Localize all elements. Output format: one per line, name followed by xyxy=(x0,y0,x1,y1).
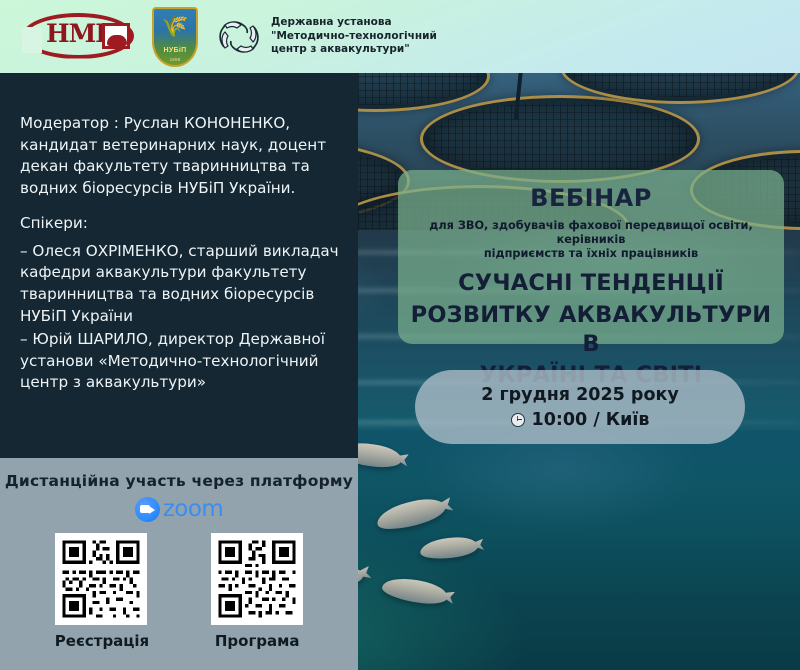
nmc-box-shape xyxy=(102,23,130,49)
nmc-logo: НМЦ xyxy=(16,7,146,67)
org-line-2: "Методично-технологічний xyxy=(271,30,437,44)
shield-label: НУБіП xyxy=(152,47,198,54)
speaker-2-text: – Юрій ШАРИЛО, директор Державної устано… xyxy=(20,329,340,394)
event-time-row: 10:00 / Київ xyxy=(511,410,650,430)
speaker-1-text: – Олеся ОХРІМЕНКО, старший викладач кафе… xyxy=(20,241,340,327)
platform-title: Дистанційна участь через платформу xyxy=(0,472,358,490)
wheat-icon: 🌾 xyxy=(161,15,188,37)
org-line-1: Державна установа xyxy=(271,16,437,30)
fish xyxy=(381,574,450,607)
clock-icon xyxy=(511,413,525,427)
zoom-logo: zoom xyxy=(0,496,358,522)
organization-name: Державна установа "Методично-технологічн… xyxy=(271,16,437,58)
speakers-panel: Модератор : Руслан КОНОНЕНКО, кандидат в… xyxy=(0,73,358,458)
video-camera-icon xyxy=(135,497,160,522)
qr-code-program-icon[interactable] xyxy=(211,533,303,625)
webinar-title-line-2: РОЗВИТКУ АКВАКУЛЬТУРИ В xyxy=(410,301,772,360)
du-organization-logo: Державна установа "Методично-технологічн… xyxy=(216,14,437,60)
webinar-poster: НМЦ 🌾 НУБіП 1898 xyxy=(0,0,800,670)
org-line-3: центр з аквакультури" xyxy=(271,43,437,57)
qr-caption-registration: Реєстрація xyxy=(55,632,149,650)
date-time-card: 2 грудня 2025 року 10:00 / Київ xyxy=(415,370,745,444)
fish xyxy=(419,535,479,561)
fish-circle-icon xyxy=(216,14,262,60)
qr-code-row: Реєстрація xyxy=(0,533,358,650)
nubip-shield-logo: 🌾 НУБіП 1898 xyxy=(152,7,198,67)
webinar-title-card: ВЕБІНАР для ЗВО, здобувачів фахової пере… xyxy=(398,170,784,344)
webinar-audience-line-1: для ЗВО, здобувачів фахової передвищої о… xyxy=(410,219,772,247)
zoom-wordmark: zoom xyxy=(163,496,224,522)
webinar-audience-line-2: підприємств та їхніх працівників xyxy=(410,247,772,261)
qr-code-registration-icon[interactable] xyxy=(55,533,147,625)
webinar-kicker: ВЕБІНАР xyxy=(410,184,772,212)
webinar-title-line-1: СУЧАСНІ ТЕНДЕНЦІЇ xyxy=(410,269,772,298)
speakers-text: Модератор : Руслан КОНОНЕНКО, кандидат в… xyxy=(20,113,340,394)
qr-item-program[interactable]: Програма xyxy=(211,533,303,650)
speakers-label: Спікери: xyxy=(20,213,340,235)
header-logo-bar: НМЦ 🌾 НУБіП 1898 xyxy=(0,0,800,73)
fish xyxy=(374,494,448,534)
qr-caption-program: Програма xyxy=(211,632,303,650)
qr-item-registration[interactable]: Реєстрація xyxy=(55,533,149,650)
shield-year: 1898 xyxy=(152,57,198,62)
event-date: 2 грудня 2025 року xyxy=(481,385,679,405)
event-time: 10:00 / Київ xyxy=(532,410,650,430)
moderator-text: Модератор : Руслан КОНОНЕНКО, кандидат в… xyxy=(20,113,340,199)
participation-panel: Дистанційна участь через платформу zoom xyxy=(0,458,358,670)
